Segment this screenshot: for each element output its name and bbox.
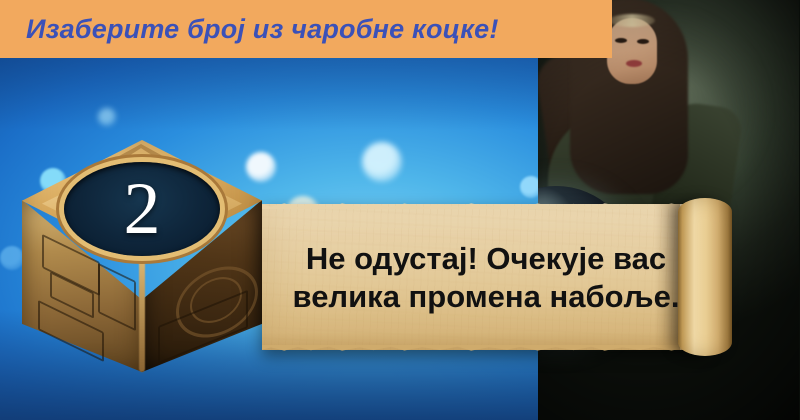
fortune-scroll: Не одустај! Очекује вас велика промена н… xyxy=(262,204,732,350)
cube-edge-seam xyxy=(139,252,145,372)
magic-cube[interactable]: 2 xyxy=(8,140,276,372)
fortune-card: Изаберите број из чаробне коцке! 2 Не од… xyxy=(0,0,800,420)
fortune-message: Не одустај! Очекује вас велика промена н… xyxy=(270,208,702,348)
cube-selected-number: 2 xyxy=(64,162,220,256)
page-title: Изаберите број из чаробне коцке! xyxy=(26,7,596,51)
